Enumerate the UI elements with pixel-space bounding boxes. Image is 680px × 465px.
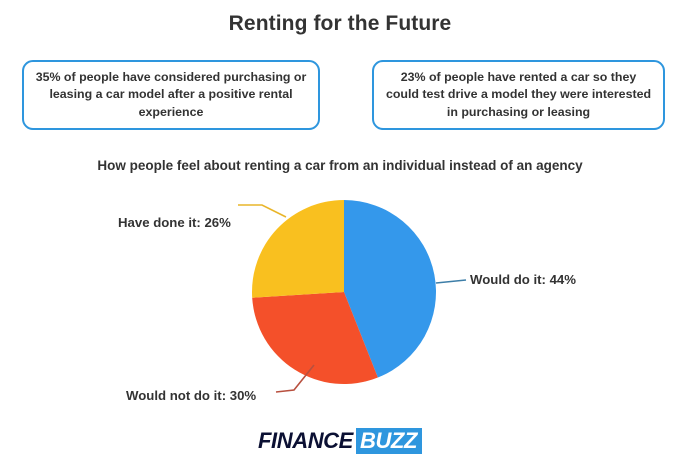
pie-label-would-do-it: Would do it: 44% (470, 272, 576, 287)
page-title: Renting for the Future (0, 12, 680, 36)
pie-label-have-done-it: Have done it: 26% (118, 215, 231, 230)
pie-chart-svg (0, 185, 680, 400)
financebuzz-logo: FINANCEBUZZ (0, 428, 680, 454)
callout-box-test-drive-rental: 23% of people have rented a car so they … (372, 60, 665, 130)
logo-inner: FINANCEBUZZ (258, 428, 422, 454)
callout-box-purchasing-after-rental: 35% of people have considered purchasing… (22, 60, 320, 130)
pie-chart (0, 185, 680, 400)
pie-label-would-not-do-it: Would not do it: 30% (126, 388, 256, 403)
pie-slice-have-done-it (252, 200, 344, 298)
logo-text-finance: FINANCE (258, 428, 356, 454)
leader-line-would-do-it (436, 280, 466, 283)
chart-subtitle: How people feel about renting a car from… (0, 158, 680, 173)
callout-text: 23% of people have rented a car so they … (384, 69, 653, 120)
infographic-canvas: Renting for the Future 35% of people hav… (0, 0, 680, 465)
leader-line-have-done-it (238, 205, 286, 217)
logo-text-buzz: BUZZ (356, 428, 422, 454)
callout-text: 35% of people have considered purchasing… (34, 69, 308, 120)
